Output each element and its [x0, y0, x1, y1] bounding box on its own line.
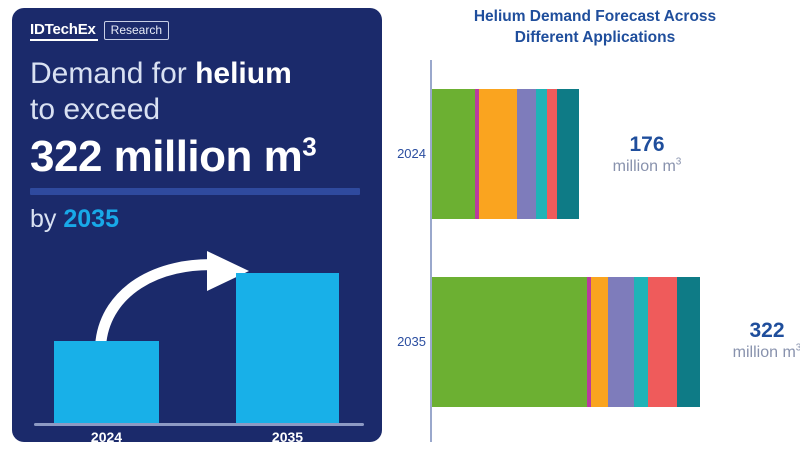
promo-panel: IDTechEx Research Demand for helium to e…	[12, 8, 382, 442]
chart-title-line-1: Helium Demand Forecast Across	[410, 6, 780, 27]
bar-segment-2024-segment-6[interactable]	[547, 89, 557, 219]
bar-value-unit-2024: million m3	[582, 157, 712, 177]
stacked-bar-2024[interactable]	[432, 89, 579, 219]
chart-category-label-2035: 2035	[390, 334, 426, 349]
headline-big-value-text: 322 million m	[30, 132, 302, 181]
brand-research-badge: Research	[104, 21, 169, 40]
headline-by-prefix: by	[30, 205, 63, 233]
headline-line-1-prefix: Demand for	[30, 57, 195, 90]
mini-label-2035: 2035	[236, 429, 339, 442]
bar-segment-2035-segment-5[interactable]	[634, 277, 648, 407]
mini-label-2024: 2024	[54, 429, 159, 442]
chart-panel: Helium Demand Forecast Across Different …	[390, 0, 800, 450]
headline-block: Demand for helium to exceed 322 million …	[30, 56, 370, 234]
brand-lockup: IDTechEx Research	[30, 21, 169, 41]
headline-line-2: to exceed	[30, 92, 370, 128]
headline-big-value: 322 million m3	[30, 130, 370, 184]
bar-segment-2024-segment-3[interactable]	[479, 89, 517, 219]
bar-value-unit-text-2024: million m	[613, 158, 676, 175]
bar-segment-2035-segment-4[interactable]	[608, 277, 635, 407]
bar-value-number-2024: 176	[582, 132, 712, 157]
mini-bar-chart: 2024 2035	[34, 251, 364, 431]
mini-chart-axis	[34, 423, 364, 426]
bar-segment-2035-segment-7[interactable]	[677, 277, 699, 407]
bar-value-label-2024: 176 million m3	[582, 132, 712, 177]
bar-value-number-2035: 322	[702, 318, 800, 343]
bar-segment-2035-segment-1[interactable]	[432, 277, 587, 407]
idtechex-logo: IDTechEx	[30, 21, 98, 41]
bar-value-label-2035: 322 million m3	[702, 318, 800, 363]
chart-title: Helium Demand Forecast Across Different …	[410, 6, 780, 48]
bar-segment-2024-segment-1[interactable]	[432, 89, 475, 219]
headline-by-year: 2035	[63, 205, 119, 233]
headline-big-value-superscript: 3	[302, 131, 316, 161]
chart-category-label-2024: 2024	[390, 146, 426, 161]
headline-by-line: by 2035	[30, 204, 370, 234]
bar-value-unit-text-2035: million m	[733, 344, 796, 361]
bar-segment-2024-segment-5[interactable]	[536, 89, 548, 219]
mini-bar-2024	[54, 341, 159, 423]
mini-bar-2035	[236, 273, 339, 423]
stacked-bar-2035[interactable]	[432, 277, 700, 407]
bar-value-unit-sup-2035: 3	[796, 343, 800, 354]
chart-title-line-2: Different Applications	[410, 27, 780, 48]
bar-segment-2024-segment-4[interactable]	[517, 89, 535, 219]
bar-value-unit-2035: million m3	[702, 343, 800, 363]
bar-value-unit-sup-2024: 3	[676, 157, 682, 168]
bar-segment-2024-segment-7[interactable]	[557, 89, 579, 219]
bar-segment-2035-segment-6[interactable]	[648, 277, 677, 407]
headline-line-1-emphasis: helium	[195, 57, 292, 90]
headline-line-1: Demand for helium	[30, 56, 370, 92]
headline-divider	[30, 188, 360, 195]
bar-segment-2035-segment-3[interactable]	[591, 277, 608, 407]
